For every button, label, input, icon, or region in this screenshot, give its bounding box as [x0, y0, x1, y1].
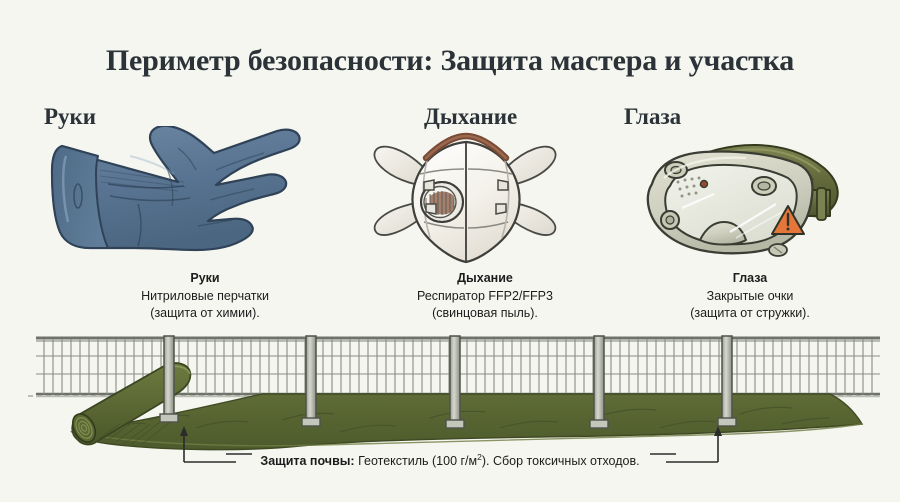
caption-line2-eyes: (защита от стружки).: [690, 306, 810, 320]
page-title: Периметр безопасности: Защита мастера и …: [0, 44, 900, 78]
caption-title-breathing: Дыхание: [330, 270, 640, 287]
soil-note-text1: Геотекстиль (100 г/м: [355, 454, 478, 468]
column-heading-breathing: Дыхание: [424, 104, 517, 130]
soil-protection-note: Защита почвы: Геотекстиль (100 г/м2). Сб…: [0, 452, 900, 468]
caption-line2-hands: (защита от химии).: [150, 306, 259, 320]
soil-note-text2: ). Сбор токсичных отходов.: [482, 454, 640, 468]
infographic-poster: Периметр безопасности: Защита мастера и …: [0, 0, 900, 502]
caption-line1-hands: Нитриловые перчатки: [141, 289, 269, 303]
ffp-respirator-icon: [368, 128, 568, 273]
soil-note-label: Защита почвы:: [260, 454, 354, 468]
safety-goggles-icon: [618, 128, 870, 275]
column-heading-eyes: Глаза: [624, 104, 681, 130]
caption-breathing: Дыхание Респиратор FFP2/FFP3 (свинцовая …: [330, 270, 640, 322]
caption-eyes: Глаза Закрытые очки (защита от стружки).: [600, 270, 900, 322]
caption-line1-breathing: Респиратор FFP2/FFP3: [417, 289, 553, 303]
caption-line1-eyes: Закрытые очки: [707, 289, 794, 303]
caption-title-eyes: Глаза: [600, 270, 900, 287]
caption-title-hands: Руки: [42, 270, 368, 287]
nitrile-glove-icon: [38, 126, 328, 271]
caption-line2-breathing: (свинцовая пыль).: [432, 306, 538, 320]
caption-hands: Руки Нитриловые перчатки (защита от хими…: [42, 270, 368, 322]
